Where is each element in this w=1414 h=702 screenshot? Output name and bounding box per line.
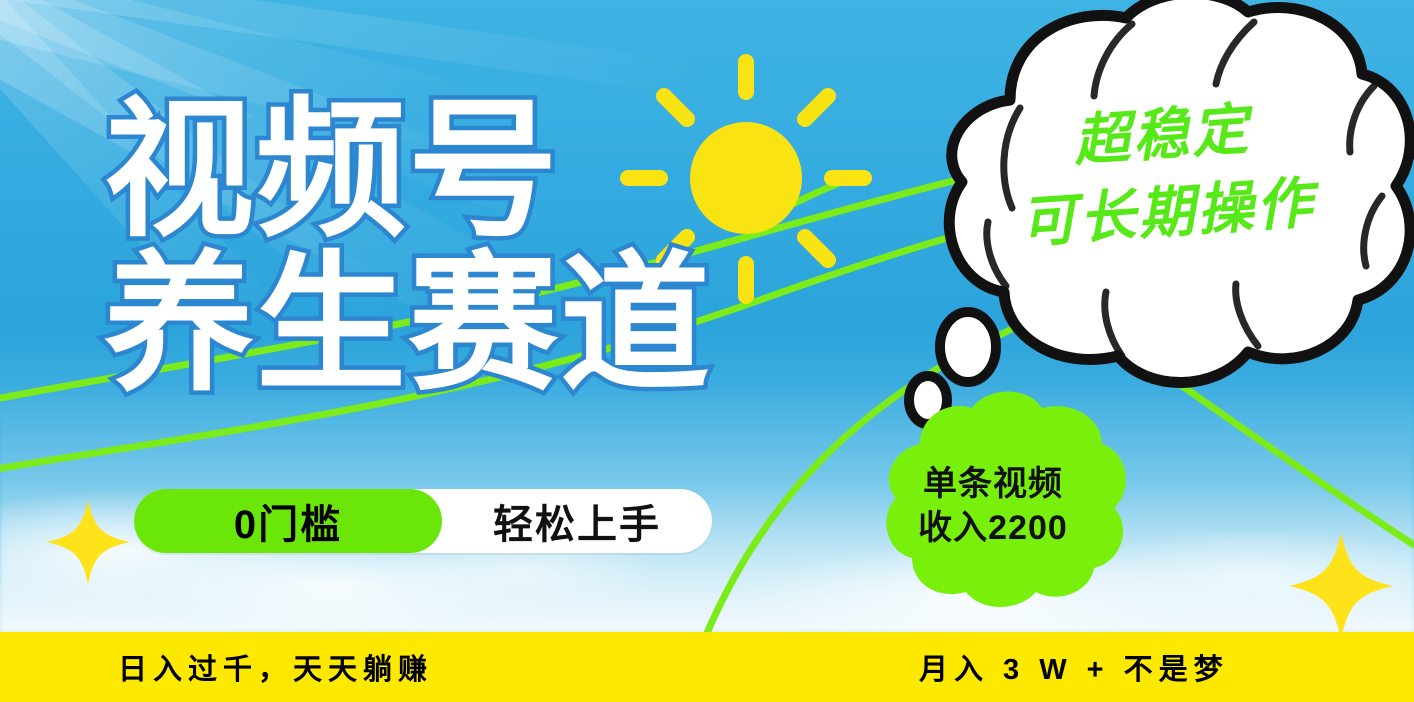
badge-zero-threshold-label: 0门槛 bbox=[234, 492, 342, 550]
promo-poster: 视频号 养生赛道 0门槛 轻松上手 超稳定 可长期操作 单条视频 收入2200 … bbox=[0, 0, 1414, 702]
thought-bubble-text: 超稳定 可长期操作 bbox=[950, 82, 1380, 267]
title-line-2: 养生赛道 bbox=[104, 250, 712, 398]
green-blob-line-1: 单条视频 bbox=[878, 462, 1108, 506]
badge-easy-start: 轻松上手 bbox=[442, 492, 712, 550]
sparkle-icon bbox=[1289, 533, 1393, 639]
footer-right-text: 月入 3 W + 不是梦 bbox=[919, 646, 1229, 688]
poster-title: 视频号 养生赛道 bbox=[104, 96, 712, 398]
footer-left-text: 日入过千，天天躺赚 bbox=[118, 646, 433, 688]
green-blob-text: 单条视频 收入2200 bbox=[878, 462, 1108, 550]
badge-zero-threshold: 0门槛 bbox=[134, 489, 442, 553]
green-blob-line-2: 收入2200 bbox=[878, 506, 1108, 550]
badge-easy-start-label: 轻松上手 bbox=[493, 492, 661, 550]
footer-banner: 日入过千，天天躺赚 月入 3 W + 不是梦 bbox=[0, 632, 1414, 702]
title-line-1: 视频号 bbox=[104, 86, 560, 254]
feature-badges: 0门槛 轻松上手 bbox=[134, 489, 712, 553]
sparkle-icon bbox=[46, 500, 130, 584]
